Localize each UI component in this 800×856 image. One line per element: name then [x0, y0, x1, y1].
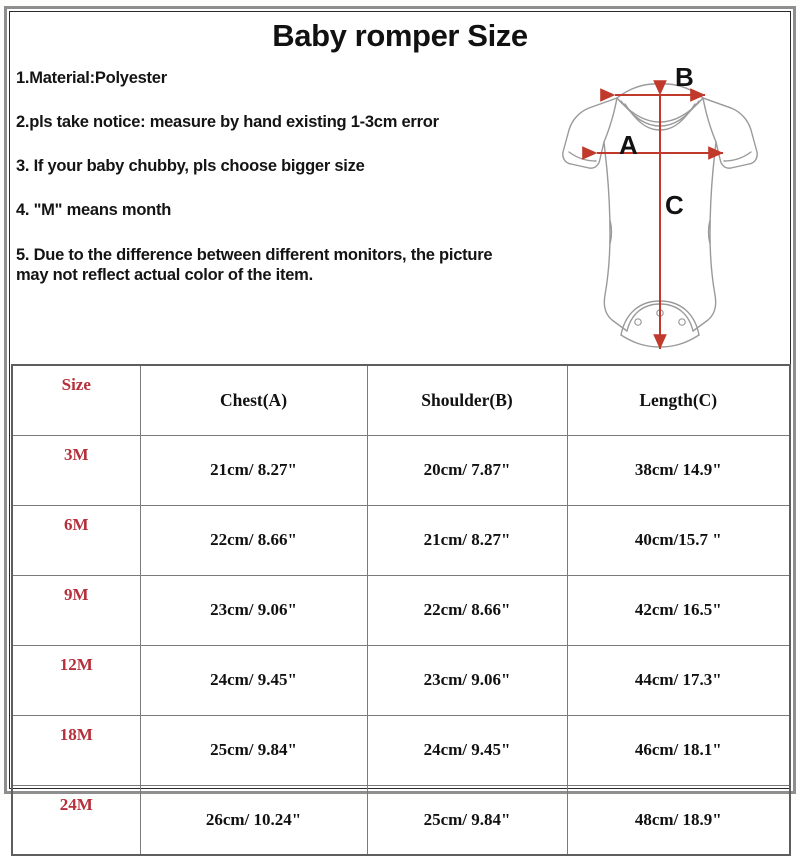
- size-label: 9M: [12, 575, 140, 645]
- shoulder-value: 22cm/ 8.66": [367, 575, 567, 645]
- chest-value: 23cm/ 9.06": [140, 575, 367, 645]
- dimension-label-chest: A: [619, 132, 638, 158]
- snap-button-icon: [679, 319, 685, 325]
- length-value: 42cm/ 16.5": [567, 575, 790, 645]
- snap-button-icon: [635, 319, 641, 325]
- note-item: 1.Material:Polyester: [16, 68, 526, 88]
- chest-value: 21cm/ 8.27": [140, 435, 367, 505]
- size-label: 18M: [12, 715, 140, 785]
- shoulder-value: 23cm/ 9.06": [367, 645, 567, 715]
- size-label: 24M: [12, 785, 140, 855]
- page-title: Baby romper Size: [0, 18, 800, 54]
- size-table: Size Chest(A) Shoulder(B) Length(C) 3M 2…: [11, 364, 791, 856]
- column-header-length: Length(C): [567, 365, 790, 435]
- table-row: 18M 25cm/ 9.84" 24cm/ 9.45" 46cm/ 18.1": [12, 715, 790, 785]
- dimension-label-shoulder: B: [675, 64, 694, 90]
- column-header-shoulder: Shoulder(B): [367, 365, 567, 435]
- table-row: 24M 26cm/ 10.24" 25cm/ 9.84" 48cm/ 18.9": [12, 785, 790, 855]
- table-row: 12M 24cm/ 9.45" 23cm/ 9.06" 44cm/ 17.3": [12, 645, 790, 715]
- table-row: 9M 23cm/ 9.06" 22cm/ 8.66" 42cm/ 16.5": [12, 575, 790, 645]
- notes-list: 1.Material:Polyester 2.pls take notice: …: [16, 68, 526, 285]
- shoulder-value: 24cm/ 9.45": [367, 715, 567, 785]
- chest-value: 22cm/ 8.66": [140, 505, 367, 575]
- size-table-container: Size Chest(A) Shoulder(B) Length(C) 3M 2…: [11, 364, 789, 788]
- size-label: 6M: [12, 505, 140, 575]
- note-item: 4. "M" means month: [16, 200, 526, 220]
- shoulder-value: 20cm/ 7.87": [367, 435, 567, 505]
- length-value: 48cm/ 18.9": [567, 785, 790, 855]
- length-value: 40cm/15.7 ": [567, 505, 790, 575]
- size-chart-page: Baby romper Size 1.Material:Polyester 2.…: [0, 0, 800, 800]
- note-item: 5. Due to the difference between differe…: [16, 245, 526, 285]
- length-value: 44cm/ 17.3": [567, 645, 790, 715]
- chest-value: 26cm/ 10.24": [140, 785, 367, 855]
- table-row: 3M 21cm/ 8.27" 20cm/ 7.87" 38cm/ 14.9": [12, 435, 790, 505]
- romper-diagram: B A C: [535, 52, 785, 357]
- size-label: 12M: [12, 645, 140, 715]
- column-header-chest: Chest(A): [140, 365, 367, 435]
- column-header-size: Size: [12, 365, 140, 435]
- shoulder-value: 21cm/ 8.27": [367, 505, 567, 575]
- length-value: 38cm/ 14.9": [567, 435, 790, 505]
- length-value: 46cm/ 18.1": [567, 715, 790, 785]
- chest-value: 24cm/ 9.45": [140, 645, 367, 715]
- note-item: 2.pls take notice: measure by hand exist…: [16, 112, 526, 132]
- chest-value: 25cm/ 9.84": [140, 715, 367, 785]
- shoulder-value: 25cm/ 9.84": [367, 785, 567, 855]
- size-label: 3M: [12, 435, 140, 505]
- dimension-label-length: C: [665, 192, 684, 218]
- romper-illustration: [535, 52, 785, 357]
- table-row: 6M 22cm/ 8.66" 21cm/ 8.27" 40cm/15.7 ": [12, 505, 790, 575]
- table-header-row: Size Chest(A) Shoulder(B) Length(C): [12, 365, 790, 435]
- note-item: 3. If your baby chubby, pls choose bigge…: [16, 156, 526, 176]
